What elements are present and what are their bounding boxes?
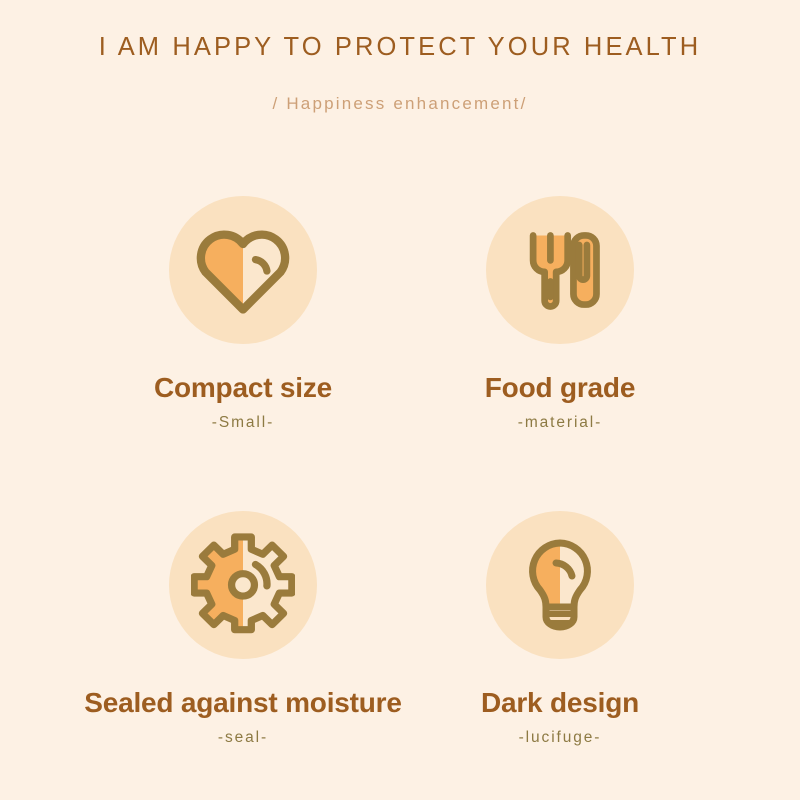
feature-title: Compact size bbox=[78, 344, 408, 404]
feature-card-food-grade: Food grade -material- bbox=[395, 196, 725, 432]
icon-badge bbox=[486, 511, 634, 659]
feature-title: Sealed against moisture bbox=[78, 659, 408, 719]
page-title: I AM HAPPY TO PROTECT YOUR HEALTH bbox=[0, 0, 800, 62]
feature-title: Food grade bbox=[395, 344, 725, 404]
feature-caption: -seal- bbox=[78, 719, 408, 747]
feature-card-dark-design: Dark design -lucifuge- bbox=[395, 511, 725, 747]
icon-badge bbox=[169, 196, 317, 344]
header: I AM HAPPY TO PROTECT YOUR HEALTH / Happ… bbox=[0, 0, 800, 114]
icon-badge bbox=[486, 196, 634, 344]
fork-knife-icon bbox=[512, 222, 608, 318]
feature-caption: -Small- bbox=[78, 404, 408, 432]
gear-icon bbox=[191, 533, 295, 637]
page-subtitle: / Happiness enhancement/ bbox=[0, 62, 800, 114]
feature-title: Dark design bbox=[395, 659, 725, 719]
feature-caption: -material- bbox=[395, 404, 725, 432]
icon-badge bbox=[169, 511, 317, 659]
feature-card-sealed: Sealed against moisture -seal- bbox=[78, 511, 408, 747]
feature-grid: Compact size -Small- bbox=[0, 196, 800, 800]
heart-icon bbox=[191, 218, 295, 322]
poster-canvas: I AM HAPPY TO PROTECT YOUR HEALTH / Happ… bbox=[0, 0, 800, 800]
feature-card-compact-size: Compact size -Small- bbox=[78, 196, 408, 432]
feature-caption: -lucifuge- bbox=[395, 719, 725, 747]
lightbulb-icon bbox=[510, 535, 610, 635]
